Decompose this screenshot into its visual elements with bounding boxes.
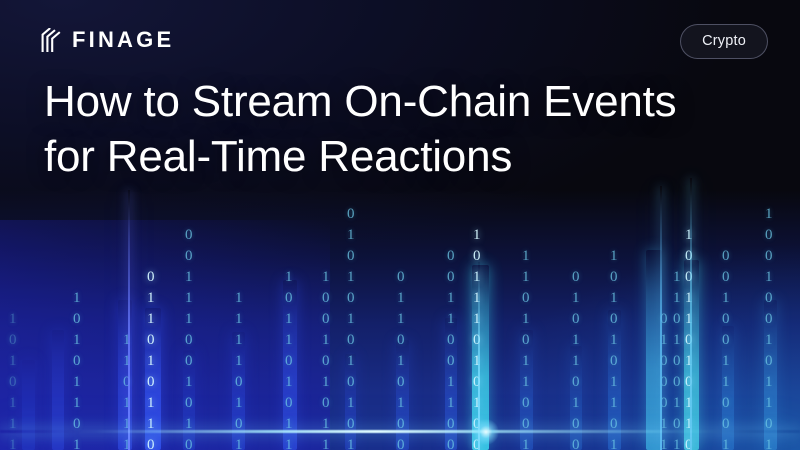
vertical-light-ray (660, 186, 662, 450)
binary-digit: 0 (765, 225, 773, 246)
binary-digit: 1 (9, 393, 17, 414)
binary-digit: 0 (447, 435, 455, 450)
binary-digit: 1 (285, 330, 293, 351)
binary-digit: 1 (235, 351, 243, 372)
vertical-light-ray (690, 178, 692, 450)
binary-digit: 1 (9, 351, 17, 372)
binary-digit: 1 (185, 309, 193, 330)
binary-digit: 1 (765, 435, 773, 450)
binary-digit: 0 (673, 351, 681, 372)
binary-digit: 1 (322, 372, 330, 393)
binary-digit: 0 (322, 393, 330, 414)
binary-digit: 1 (522, 246, 530, 267)
binary-column: 100101011 (322, 267, 330, 450)
binary-digit: 1 (397, 393, 405, 414)
binary-digit: 0 (9, 372, 17, 393)
binary-digit: 0 (397, 435, 405, 450)
binary-digit: 0 (285, 393, 293, 414)
binary-digit-layer: 1010111101011011101110110101100011100101… (0, 0, 800, 450)
binary-digit: 1 (322, 330, 330, 351)
binary-digit: 1 (765, 204, 773, 225)
binary-digit: 1 (147, 309, 155, 330)
binary-digit: 0 (765, 288, 773, 309)
binary-digit: 0 (522, 393, 530, 414)
binary-digit: 0 (447, 267, 455, 288)
binary-digit: 1 (572, 288, 580, 309)
binary-digit: 1 (447, 372, 455, 393)
binary-digit: 0 (397, 372, 405, 393)
binary-digit: 1 (673, 330, 681, 351)
binary-digit: 0 (610, 351, 618, 372)
horizontal-light-beam (0, 430, 800, 433)
hero-banner: 1010111101011011101110110101100011100101… (0, 0, 800, 450)
binary-digit: 1 (9, 309, 17, 330)
binary-digit: 1 (185, 288, 193, 309)
binary-digit: 0 (765, 246, 773, 267)
binary-digit: 1 (285, 267, 293, 288)
binary-digit: 1 (397, 309, 405, 330)
binary-digit: 1 (765, 372, 773, 393)
binary-digit: 1 (765, 393, 773, 414)
binary-digit: 0 (397, 330, 405, 351)
binary-digit: 1 (610, 288, 618, 309)
binary-digit: 1 (185, 372, 193, 393)
binary-digit: 0 (572, 435, 580, 450)
binary-digit: 1 (572, 330, 580, 351)
binary-digit: 1 (473, 225, 481, 246)
binary-column: 1101011001 (522, 246, 530, 450)
binary-column: 11110101 (235, 288, 243, 450)
binary-digit: 1 (322, 435, 330, 450)
binary-column: 110100101 (673, 267, 681, 450)
binary-digit: 0 (397, 267, 405, 288)
binary-column: 011010110 (147, 267, 155, 450)
binary-digit: 1 (397, 351, 405, 372)
binary-digit: 0 (572, 267, 580, 288)
binary-digit: 1 (610, 246, 618, 267)
binary-digit: 0 (185, 246, 193, 267)
binary-digit: 1 (347, 435, 355, 450)
binary-digit: 1 (147, 393, 155, 414)
binary-digit: 1 (572, 393, 580, 414)
binary-digit: 1 (673, 435, 681, 450)
binary-digit: 0 (147, 372, 155, 393)
binary-digit: 0 (765, 309, 773, 330)
binary-column: 1010111 (9, 309, 17, 450)
binary-digit: 0 (572, 372, 580, 393)
binary-digit: 1 (610, 372, 618, 393)
binary-digit: 1 (285, 435, 293, 450)
binary-column: 1010101101 (610, 246, 618, 450)
binary-digit: 1 (765, 330, 773, 351)
beam-intersection-node (473, 419, 499, 445)
binary-digit: 1 (347, 351, 355, 372)
binary-digit: 1 (722, 288, 730, 309)
binary-digit: 0 (673, 372, 681, 393)
binary-digit: 1 (347, 267, 355, 288)
binary-digit: 0 (235, 372, 243, 393)
binary-column: 101101011 (285, 267, 293, 450)
binary-digit: 1 (447, 288, 455, 309)
binary-digit: 0 (447, 351, 455, 372)
binary-digit: 0 (610, 309, 618, 330)
binary-digit: 1 (185, 267, 193, 288)
binary-digit: 0 (185, 330, 193, 351)
finage-logo[interactable]: FINAGE (40, 27, 174, 53)
binary-digit: 1 (285, 309, 293, 330)
binary-digit: 0 (185, 351, 193, 372)
page-title-line-1: How to Stream On-Chain Events (44, 77, 676, 126)
binary-digit: 1 (673, 288, 681, 309)
binary-digit: 0 (285, 288, 293, 309)
binary-digit: 0 (522, 330, 530, 351)
binary-digit: 1 (572, 351, 580, 372)
binary-digit: 1 (235, 435, 243, 450)
binary-digit: 0 (322, 288, 330, 309)
binary-digit: 1 (285, 372, 293, 393)
binary-digit: 0 (73, 351, 81, 372)
binary-column: 0011001100 (447, 246, 455, 450)
binary-digit: 1 (73, 330, 81, 351)
binary-digit: 1 (397, 288, 405, 309)
binary-digit: 1 (347, 309, 355, 330)
binary-digit: 0 (147, 267, 155, 288)
binary-digit: 1 (522, 351, 530, 372)
binary-digit: 1 (73, 435, 81, 450)
page-title: How to Stream On-Chain Events for Real-T… (44, 74, 744, 184)
binary-digit: 0 (722, 393, 730, 414)
binary-digit: 1 (235, 288, 243, 309)
binary-column: 011010100 (397, 267, 405, 450)
binary-digit: 1 (347, 393, 355, 414)
binary-digit: 0 (322, 351, 330, 372)
binary-digit: 1 (235, 309, 243, 330)
binary-digit: 0 (722, 309, 730, 330)
binary-digit: 1 (765, 267, 773, 288)
category-badge-crypto[interactable]: Crypto (680, 24, 768, 59)
binary-digit: 0 (73, 309, 81, 330)
binary-digit: 1 (347, 225, 355, 246)
binary-digit: 1 (73, 393, 81, 414)
binary-digit: 0 (322, 309, 330, 330)
binary-digit: 0 (185, 225, 193, 246)
binary-digit: 0 (522, 288, 530, 309)
binary-digit: 1 (610, 435, 618, 450)
binary-digit: 1 (322, 267, 330, 288)
binary-digit: 1 (235, 393, 243, 414)
binary-digit: 1 (235, 330, 243, 351)
binary-digit: 1 (610, 330, 618, 351)
binary-digit: 0 (9, 330, 17, 351)
finage-chevron-bars-icon (40, 28, 62, 52)
binary-digit: 1 (673, 393, 681, 414)
vertical-light-ray (128, 190, 130, 450)
binary-digit: 0 (147, 435, 155, 450)
binary-digit: 1 (447, 393, 455, 414)
binary-digit: 0 (572, 309, 580, 330)
binary-digit: 1 (147, 288, 155, 309)
binary-column: 010101010101 (347, 204, 355, 450)
binary-digit: 0 (347, 288, 355, 309)
binary-digit: 0 (722, 267, 730, 288)
binary-digit: 1 (447, 309, 455, 330)
binary-digit: 1 (522, 309, 530, 330)
binary-column: 010110100 (572, 267, 580, 450)
binary-digit: 0 (722, 330, 730, 351)
binary-digit: 0 (185, 393, 193, 414)
binary-digit: 0 (347, 204, 355, 225)
binary-digit: 0 (285, 351, 293, 372)
binary-digit: 0 (447, 330, 455, 351)
binary-digit: 0 (185, 435, 193, 450)
binary-digit: 0 (347, 330, 355, 351)
binary-digit: 0 (765, 351, 773, 372)
binary-digit: 1 (722, 435, 730, 450)
binary-column: 100100101101 (765, 204, 773, 450)
binary-digit: 1 (522, 435, 530, 450)
binary-digit: 1 (73, 372, 81, 393)
binary-column: 0010011001 (722, 246, 730, 450)
binary-digit: 1 (610, 393, 618, 414)
binary-digit: 0 (447, 246, 455, 267)
binary-digit: 1 (73, 288, 81, 309)
finage-wordmark: FINAGE (72, 27, 174, 53)
binary-digit: 0 (610, 267, 618, 288)
binary-column: 00111001010 (185, 225, 193, 450)
binary-digit: 0 (722, 246, 730, 267)
binary-digit: 0 (347, 372, 355, 393)
binary-digit: 0 (347, 246, 355, 267)
binary-digit: 0 (673, 309, 681, 330)
binary-digit: 1 (522, 372, 530, 393)
binary-digit: 1 (722, 372, 730, 393)
binary-digit: 1 (147, 351, 155, 372)
binary-digit: 1 (673, 267, 681, 288)
binary-digit: 1 (722, 351, 730, 372)
binary-digit: 1 (522, 267, 530, 288)
binary-column: 10101101 (73, 288, 81, 450)
binary-digit: 0 (147, 330, 155, 351)
page-title-line-2: for Real-Time Reactions (44, 129, 744, 184)
binary-digit: 1 (9, 435, 17, 450)
